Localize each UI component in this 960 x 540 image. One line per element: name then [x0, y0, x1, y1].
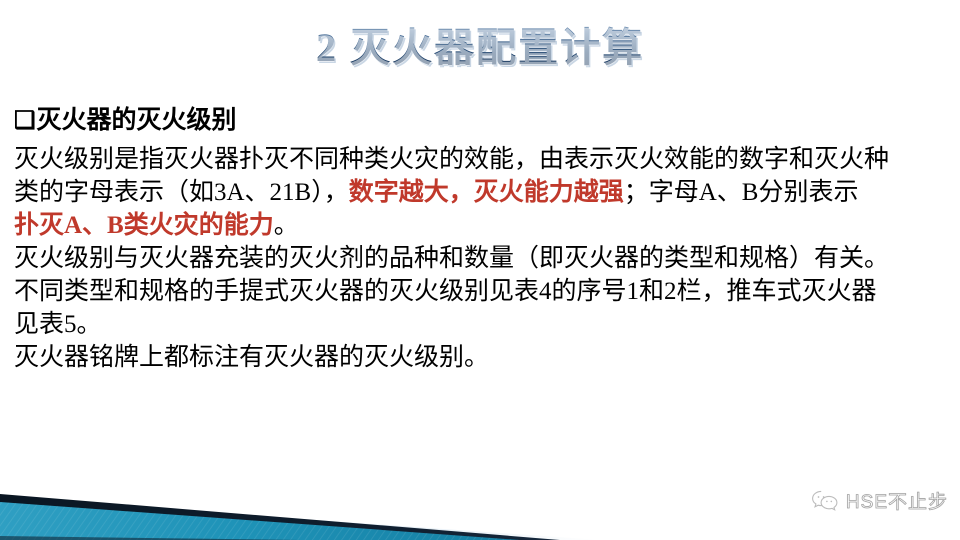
text-line: 类的字母表示（如3A、21B），数字越大，灭火能力越强；字母A、B分别表示 [14, 176, 950, 209]
text-line: 灭火器铭牌上都标注有灭火器的灭火级别。 [14, 341, 950, 374]
slide-body: ❑灭火器的灭火级别 灭火级别是指灭火器扑灭不同种类火灾的效能，由表示灭火效能的数… [14, 104, 950, 374]
text-run: 。 [274, 212, 299, 239]
section-heading: ❑灭火器的灭火级别 [14, 104, 950, 138]
text-run: 见表5。 [14, 311, 102, 338]
text-run: 灭火器铭牌上都标注有灭火器的灭火级别。 [14, 344, 489, 371]
page-title: 2 灭火器配置计算 [0, 20, 960, 80]
text-line: 扑灭A、B类火灾的能力。 [14, 209, 950, 242]
watermark: HSE不止步 [811, 487, 948, 514]
text-run: 不同类型和规格的手提式灭火器的灭火级别见表4的序号1和2栏，推车式灭火器 [14, 278, 877, 305]
text-line: 灭火级别与灭火器充装的灭火剂的品种和数量（即灭火器的类型和规格）有关。 [14, 242, 950, 275]
text-line: 灭火级别是指灭火器扑灭不同种类火灾的效能，由表示灭火效能的数字和灭火种 [14, 143, 950, 176]
text-run-highlight: 扑灭A、B类火灾的能力 [14, 212, 274, 239]
paragraph-1: 灭火级别是指灭火器扑灭不同种类火灾的效能，由表示灭火效能的数字和灭火种 类的字母… [14, 143, 950, 242]
square-bullet-icon: ❑ [14, 104, 36, 138]
wechat-icon [811, 489, 839, 513]
section-heading-label: 灭火器的灭火级别 [37, 107, 237, 134]
text-line: 见表5。 [14, 308, 950, 341]
text-line: 不同类型和规格的手提式灭火器的灭火级别见表4的序号1和2栏，推车式灭火器 [14, 275, 950, 308]
text-run: ；字母A、B分别表示 [624, 179, 859, 206]
text-run: 灭火级别是指灭火器扑灭不同种类火灾的效能，由表示灭火效能的数字和灭火种 [14, 146, 889, 173]
slide-canvas: 2 灭火器配置计算 2 灭火器配置计算 ❑灭火器的灭火级别 灭火级别是指灭火器扑… [0, 0, 960, 540]
watermark-text: HSE不止步 [846, 487, 948, 514]
paragraph-3: 灭火器铭牌上都标注有灭火器的灭火级别。 [14, 341, 950, 374]
text-run: 类的字母表示（如3A、21B）， [14, 179, 349, 206]
text-run: 灭火级别与灭火器充装的灭火剂的品种和数量（即灭火器的类型和规格）有关。 [14, 245, 889, 272]
page-title-text: 2 灭火器配置计算 [316, 20, 644, 76]
decorative-bands [0, 410, 960, 540]
paragraph-2: 灭火级别与灭火器充装的灭火剂的品种和数量（即灭火器的类型和规格）有关。 不同类型… [14, 242, 950, 341]
text-run-highlight: 数字越大，灭火能力越强 [349, 179, 624, 206]
